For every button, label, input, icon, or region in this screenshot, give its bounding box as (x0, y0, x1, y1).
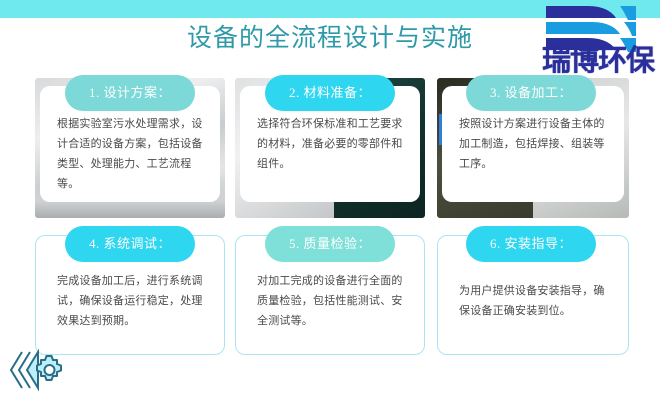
card-4-title-pill[interactable]: 4. 系统调试： (65, 226, 195, 262)
card-1-body: 根据实验室污水处理需求，设计合适的设备方案，包括设备类型、处理能力、工艺流程等。 (57, 114, 209, 194)
card-6-body: 为用户提供设备安装指导，确保设备正确安装到位。 (459, 281, 613, 321)
slide-canvas: 设备的全流程设计与实施 瑞博环保 根据实验室污水处理需求，设计合适的设备方案，包… (0, 0, 660, 400)
card-5-title-pill[interactable]: 5. 质量检验： (265, 226, 395, 262)
card-4-body: 完成设备加工后，进行系统调试，确保设备运行稳定，处理效果达到预期。 (57, 271, 209, 331)
card-1-title-pill[interactable]: 1. 设计方案： (65, 75, 195, 111)
card-2-body: 选择符合环保标准和工艺要求的材料，准备必要的零部件和组件。 (257, 114, 409, 174)
brand-name-text: 瑞博环保 (542, 46, 654, 76)
card-2-title-pill[interactable]: 2. 材料准备： (265, 75, 395, 111)
card-3-body: 按照设计方案进行设备主体的加工制造，包括焊接、组装等工序。 (459, 114, 613, 174)
gear-chevron-decoration-icon (8, 346, 68, 394)
card-6-title-pill[interactable]: 6. 安装指导： (466, 226, 596, 262)
brand-logo: 瑞博环保 (508, 4, 656, 76)
card-5-body: 对加工完成的设备进行全面的质量检验，包括性能测试、安全测试等。 (257, 271, 409, 331)
card-3-title-pill[interactable]: 3. 设备加工： (466, 75, 596, 111)
